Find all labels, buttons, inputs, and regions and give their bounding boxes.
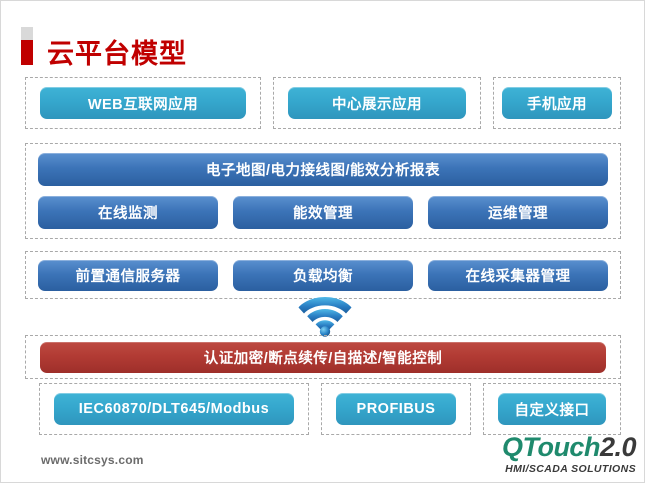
box-custom-interface[interactable]: 自定义接口 xyxy=(498,393,606,425)
box-mobile-application[interactable]: 手机应用 xyxy=(502,87,612,119)
box-operation-maintenance[interactable]: 运维管理 xyxy=(428,196,608,229)
box-auth-encryption-resume-control[interactable]: 认证加密/断点续传/自描述/智能控制 xyxy=(40,342,606,373)
application-layer-group: 电子地图/电力接线图/能效分析报表 在线监测 能效管理 运维管理 xyxy=(25,143,621,239)
box-online-collector-management[interactable]: 在线采集器管理 xyxy=(428,260,608,291)
box-profibus[interactable]: PROFIBUS xyxy=(336,393,456,425)
protocol-group-custom: 自定义接口 xyxy=(483,383,621,435)
box-online-monitoring[interactable]: 在线监测 xyxy=(38,196,218,229)
presentation-group-center: 中心展示应用 xyxy=(273,77,481,129)
title-accent-bar-red xyxy=(21,40,33,65)
title-accent-bar-gray xyxy=(21,27,33,40)
box-energy-management[interactable]: 能效管理 xyxy=(233,196,413,229)
qtouch-logo: QTouch2.0 HMI/SCADA SOLUTIONS xyxy=(502,434,636,475)
service-layer-group: 前置通信服务器 负载均衡 在线采集器管理 xyxy=(25,251,621,299)
footer-website-url[interactable]: www.sitcsys.com xyxy=(41,453,144,467)
box-center-display-application[interactable]: 中心展示应用 xyxy=(288,87,466,119)
page-title: 云平台模型 xyxy=(21,23,187,65)
box-map-diagram-report[interactable]: 电子地图/电力接线图/能效分析报表 xyxy=(38,153,608,186)
title-accent-bar xyxy=(21,27,33,65)
qtouch-logo-main: QTouch2.0 xyxy=(502,434,636,461)
protocol-group-standard: IEC60870/DLT645/Modbus xyxy=(39,383,309,435)
page-title-text: 云平台模型 xyxy=(47,41,187,68)
presentation-group-mobile: 手机应用 xyxy=(493,77,621,129)
qtouch-logo-tagline: HMI/SCADA SOLUTIONS xyxy=(502,464,636,475)
box-iec60870-dlt645-modbus[interactable]: IEC60870/DLT645/Modbus xyxy=(54,393,294,425)
box-web-application[interactable]: WEB互联网应用 xyxy=(40,87,246,119)
transport-security-group: 认证加密/断点续传/自描述/智能控制 xyxy=(25,335,621,379)
qtouch-logo-name: QTouch xyxy=(502,432,600,462)
protocol-group-profibus: PROFIBUS xyxy=(321,383,471,435)
qtouch-logo-version: 2.0 xyxy=(600,432,636,462)
slide-canvas: 云平台模型 WEB互联网应用 中心展示应用 手机应用 电子地图/电力接线图/能效… xyxy=(0,0,645,483)
wifi-icon xyxy=(298,293,352,337)
box-front-communication-server[interactable]: 前置通信服务器 xyxy=(38,260,218,291)
application-layer-row: 在线监测 能效管理 运维管理 xyxy=(38,196,608,229)
box-load-balancing[interactable]: 负载均衡 xyxy=(233,260,413,291)
presentation-group-web: WEB互联网应用 xyxy=(25,77,261,129)
